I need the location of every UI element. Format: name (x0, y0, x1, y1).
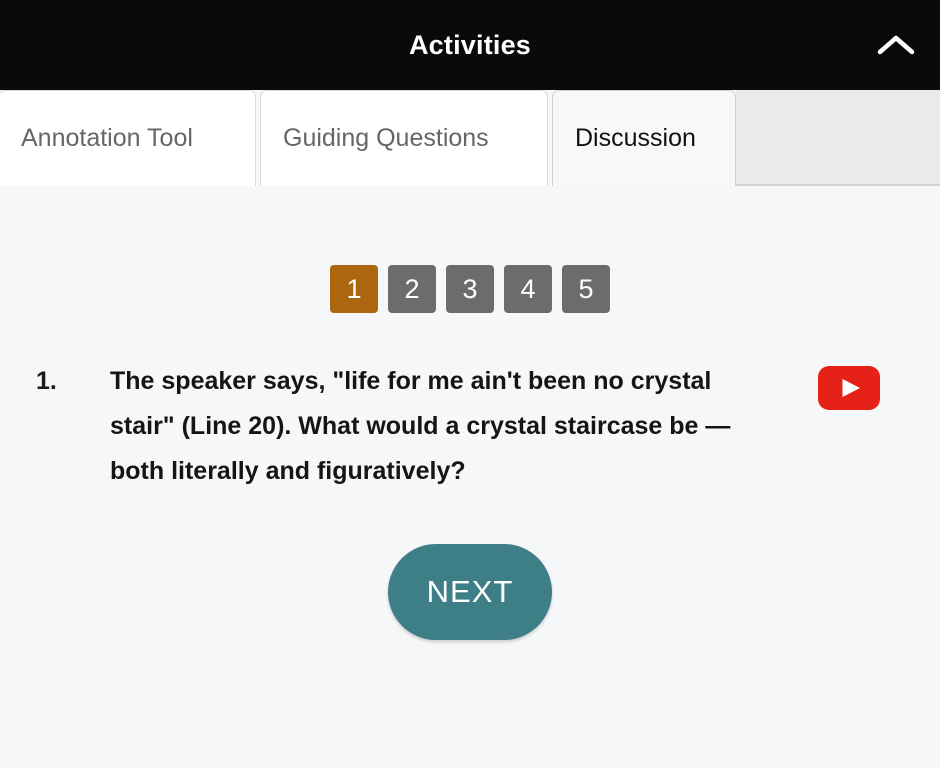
youtube-play-icon[interactable] (818, 366, 880, 410)
pager-button-label: 4 (520, 274, 535, 305)
tab-label: Guiding Questions (283, 124, 489, 153)
pager-button-5[interactable]: 5 (562, 265, 610, 313)
question-number: 1. (36, 359, 57, 404)
pager-button-label: 1 (346, 274, 361, 305)
pager-button-label: 3 (462, 274, 477, 305)
pager-button-2[interactable]: 2 (388, 265, 436, 313)
panel-header: Activities (0, 0, 940, 90)
question-block: 1. The speaker says, "life for me ain't … (0, 359, 940, 494)
tab-label: Discussion (575, 124, 696, 153)
next-button[interactable]: NEXT (388, 544, 552, 640)
question-text: The speaker says, "life for me ain't bee… (110, 359, 770, 494)
tab-guiding-questions[interactable]: Guiding Questions (260, 90, 548, 186)
pager-button-1[interactable]: 1 (330, 265, 378, 313)
question-pager: 1 2 3 4 5 (0, 265, 940, 313)
discussion-content: 1 2 3 4 5 1. The speaker says, "life for… (0, 186, 940, 768)
tab-discussion[interactable]: Discussion (552, 90, 736, 186)
tab-bar: Annotation Tool Guiding Questions Discus… (0, 90, 940, 186)
chevron-up-icon[interactable] (870, 21, 922, 69)
tab-label: Annotation Tool (21, 124, 193, 153)
pager-button-3[interactable]: 3 (446, 265, 494, 313)
tab-annotation-tool[interactable]: Annotation Tool (0, 90, 256, 186)
pager-button-label: 5 (578, 274, 593, 305)
pager-button-label: 2 (404, 274, 419, 305)
page-title: Activities (0, 0, 940, 90)
pager-button-4[interactable]: 4 (504, 265, 552, 313)
tab-bar-filler (736, 90, 940, 186)
next-button-container: NEXT (0, 544, 940, 640)
activities-panel: Activities Annotation Tool Guiding Quest… (0, 0, 940, 768)
